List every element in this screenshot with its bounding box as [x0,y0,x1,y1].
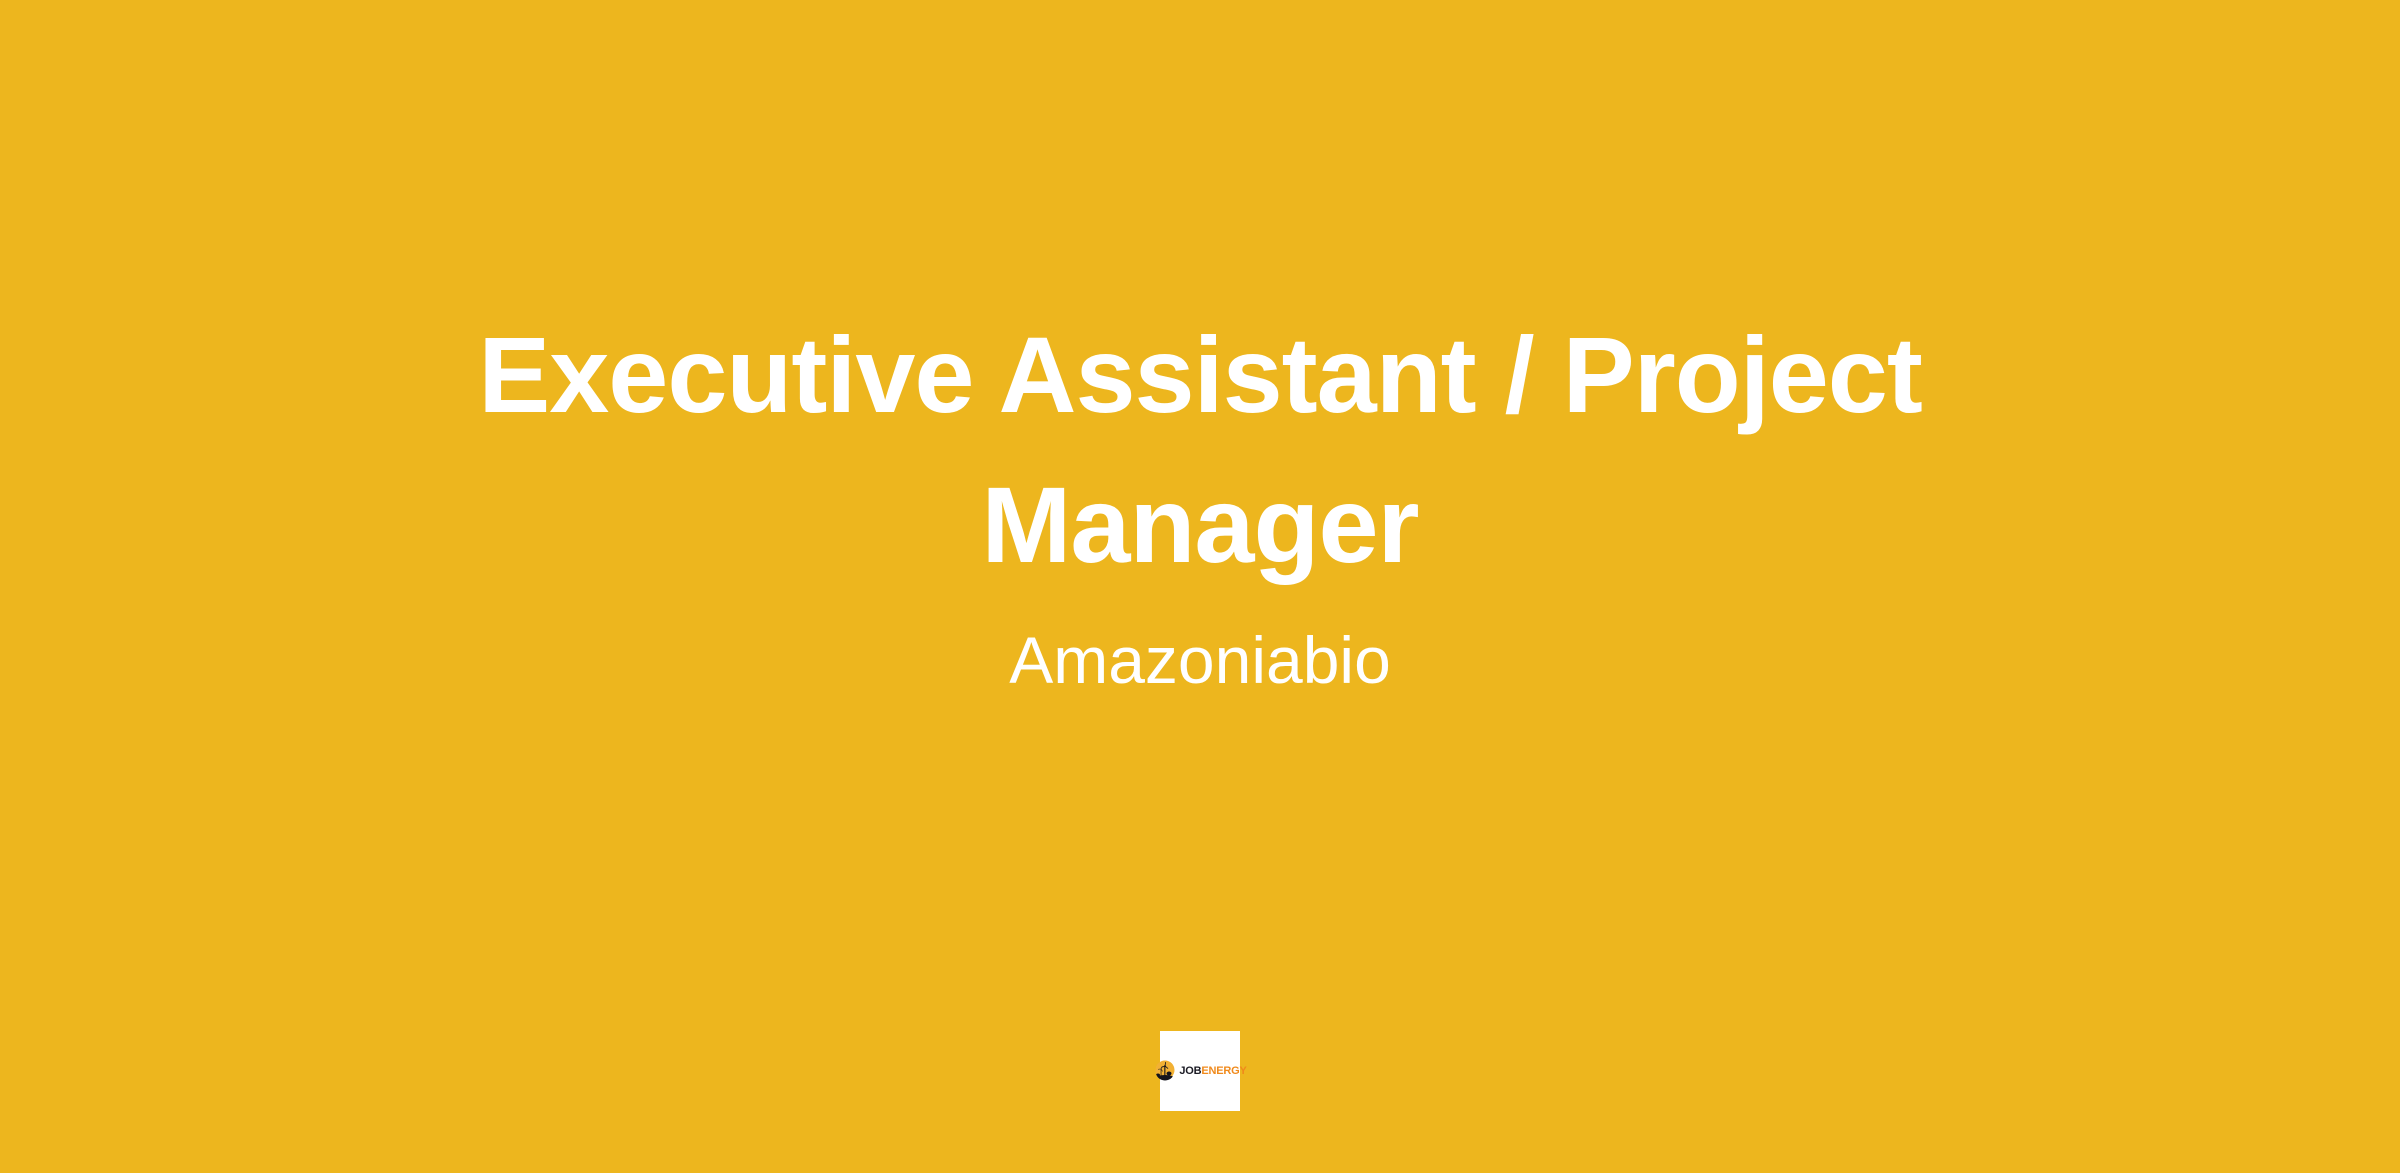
page-title: Executive Assistant / Project Manager [420,300,1980,600]
logo-wordmark-job: JOB [1179,1065,1201,1077]
company-logo-tile[interactable]: JOBENERGY [1160,1031,1240,1111]
hero-block: Executive Assistant / Project Manager Am… [0,300,2400,702]
company-name: Amazoniabio [160,618,2240,702]
logo-wordmark-energy: ENERGY [1201,1065,1246,1077]
company-logo: JOBENERGY [1164,1058,1236,1084]
job-posting-hero: Executive Assistant / Project Manager Am… [0,0,2400,1173]
logo-wordmark: JOBENERGY [1179,1066,1246,1077]
sun-wind-turbine-icon [1153,1059,1177,1083]
